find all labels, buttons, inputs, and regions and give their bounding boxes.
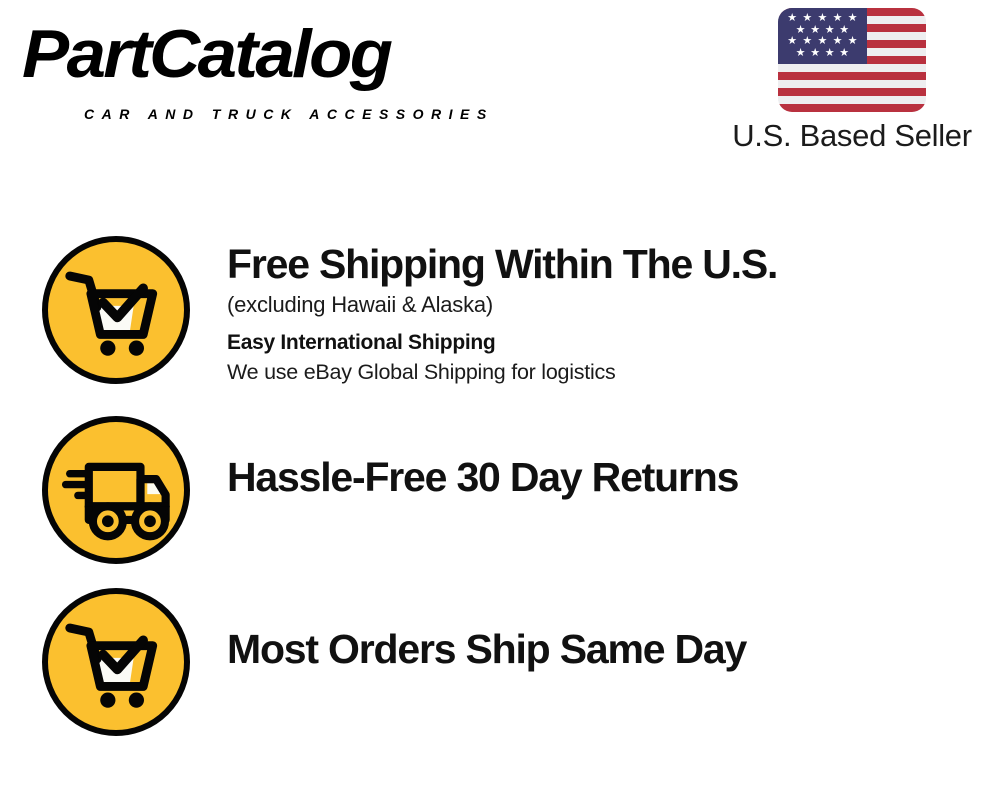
star-icon: ★	[787, 13, 797, 24]
partcatalog-logo: PartCatalog CAR AND TRUCK ACCESSORIES	[22, 18, 492, 118]
star-row: ★ ★ ★ ★ ★	[782, 36, 863, 47]
seller-label: U.S. Based Seller	[716, 118, 988, 154]
star-icon: ★	[839, 25, 849, 36]
star-row: ★ ★ ★ ★	[782, 25, 863, 36]
star-icon: ★	[825, 25, 835, 36]
star-icon: ★	[848, 13, 858, 24]
seller-banner: PartCatalog CAR AND TRUCK ACCESSORIES	[0, 0, 1000, 800]
star-icon: ★	[796, 48, 806, 59]
feature-note: (excluding Hawaii & Alaska)	[227, 289, 1000, 321]
feature-row: Most Orders Ship Same Day	[0, 588, 1000, 738]
star-icon: ★	[848, 36, 858, 47]
star-icon: ★	[787, 36, 797, 47]
feature-row: Free Shipping Within The U.S. (excluding…	[0, 236, 1000, 402]
us-flag-icon: ★ ★ ★ ★ ★ ★ ★ ★ ★ ★ ★ ★	[778, 8, 926, 112]
feature-subtitle-bold: Easy International Shipping	[227, 329, 1000, 357]
feature-text-block: Hassle-Free 30 Day Returns	[190, 416, 1000, 502]
star-icon: ★	[802, 36, 812, 47]
banner-header: PartCatalog CAR AND TRUCK ACCESSORIES	[0, 0, 1000, 170]
flag-canton: ★ ★ ★ ★ ★ ★ ★ ★ ★ ★ ★ ★	[778, 8, 867, 64]
feature-title: Free Shipping Within The U.S.	[227, 240, 1000, 289]
star-row: ★ ★ ★ ★	[782, 48, 863, 59]
shopping-cart-check-icon	[42, 588, 190, 736]
cart-check-art	[48, 594, 184, 730]
star-icon: ★	[839, 48, 849, 59]
star-icon: ★	[817, 13, 827, 24]
feature-title: Hassle-Free 30 Day Returns	[227, 453, 1000, 502]
star-icon: ★	[810, 25, 820, 36]
feature-row: Hassle-Free 30 Day Returns	[0, 416, 1000, 566]
star-icon: ★	[825, 48, 835, 59]
delivery-truck-icon	[42, 416, 190, 564]
feature-subtitle: We use eBay Global Shipping for logistic…	[227, 357, 1000, 388]
cart-check-art	[48, 242, 184, 378]
star-icon: ★	[796, 25, 806, 36]
feature-text-block: Free Shipping Within The U.S. (excluding…	[190, 236, 1000, 388]
star-row: ★ ★ ★ ★ ★	[782, 13, 863, 24]
star-icon: ★	[810, 48, 820, 59]
star-icon: ★	[817, 36, 827, 47]
shopping-cart-check-icon	[42, 236, 190, 384]
star-icon: ★	[833, 36, 843, 47]
star-icon: ★	[802, 13, 812, 24]
delivery-truck-art	[48, 422, 184, 558]
feature-title: Most Orders Ship Same Day	[227, 625, 1000, 674]
brand-wordmark: PartCatalog	[22, 18, 511, 90]
brand-tagline: CAR AND TRUCK ACCESSORIES	[84, 106, 494, 122]
feature-text-block: Most Orders Ship Same Day	[190, 588, 1000, 674]
star-icon: ★	[833, 13, 843, 24]
us-based-seller-badge: ★ ★ ★ ★ ★ ★ ★ ★ ★ ★ ★ ★	[716, 8, 988, 154]
